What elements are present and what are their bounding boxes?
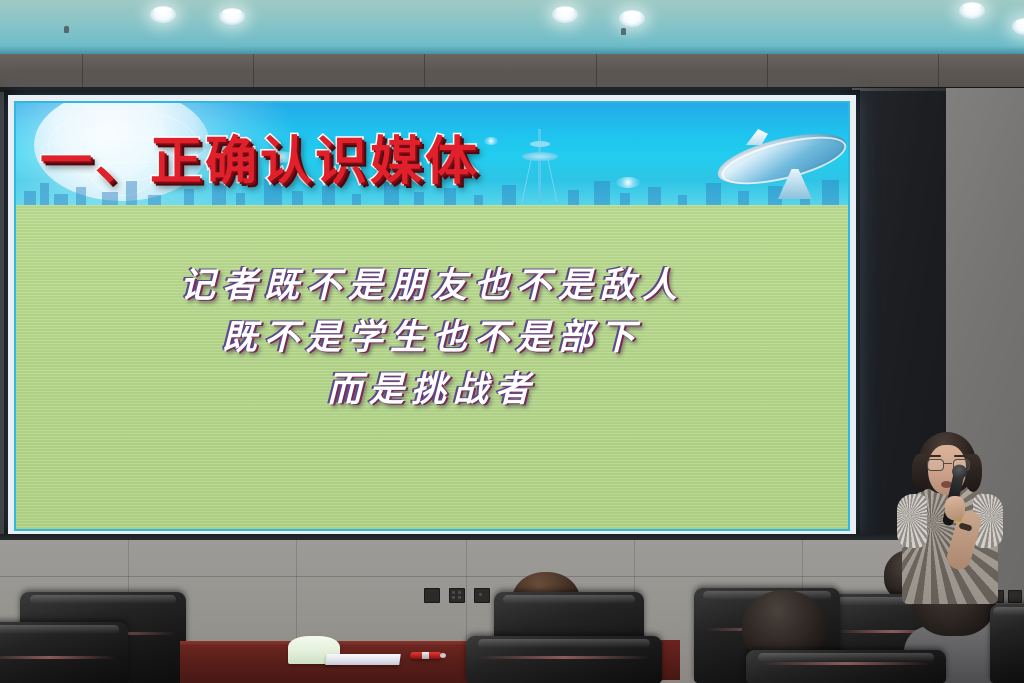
slide-banner-title: 一、正确认识媒体 <box>40 119 480 194</box>
speaker-hand <box>945 496 965 520</box>
conference-chair[interactable] <box>746 650 946 683</box>
conference-chair[interactable] <box>466 636 662 683</box>
open-notebook[interactable] <box>288 640 400 666</box>
ceiling-light <box>959 2 985 19</box>
light-glow <box>484 137 498 145</box>
ceiling <box>0 0 1024 56</box>
presentation-photo-scene: 一、正确认识媒体 记者既不是朋友也不是敌人 既不是学生也不是部下 而是挑战者 <box>0 0 1024 683</box>
wall-socket-icon[interactable] <box>474 588 490 603</box>
slide-text-line-2: 既不是学生也不是部下 <box>16 309 848 360</box>
slide-text-line-3: 而是挑战者 <box>16 361 848 412</box>
satellite-dish-graphic <box>716 125 848 203</box>
ceiling-light <box>219 8 245 25</box>
ceiling-light <box>552 6 578 23</box>
red-pen[interactable] <box>410 652 442 659</box>
slide-body: 记者既不是朋友也不是敌人 既不是学生也不是部下 而是挑战者 <box>16 205 848 531</box>
wall-socket-icon[interactable] <box>424 588 440 603</box>
upper-wall-band <box>0 54 1024 92</box>
slide-banner: 一、正确认识媒体 <box>16 103 848 207</box>
radio-tower-graphic <box>520 129 560 203</box>
speaker-presenter <box>896 432 1004 604</box>
presentation-slide[interactable]: 一、正确认识媒体 记者既不是朋友也不是敌人 既不是学生也不是部下 而是挑战者 <box>14 101 850 531</box>
ceiling-sensor-icon <box>64 26 69 33</box>
notebook-pages <box>325 654 401 665</box>
light-glow <box>616 177 640 188</box>
ceiling-light <box>619 10 645 27</box>
ceiling-light <box>1012 18 1024 35</box>
conference-chair[interactable] <box>0 622 128 683</box>
ceiling-sensor-icon <box>621 28 626 35</box>
wall-socket-icon[interactable] <box>1008 590 1022 603</box>
ceiling-light <box>150 6 176 23</box>
conference-chair[interactable] <box>990 604 1024 683</box>
slide-text-line-1: 记者既不是朋友也不是敌人 <box>16 257 848 308</box>
wall-socket-icon[interactable] <box>449 588 465 603</box>
